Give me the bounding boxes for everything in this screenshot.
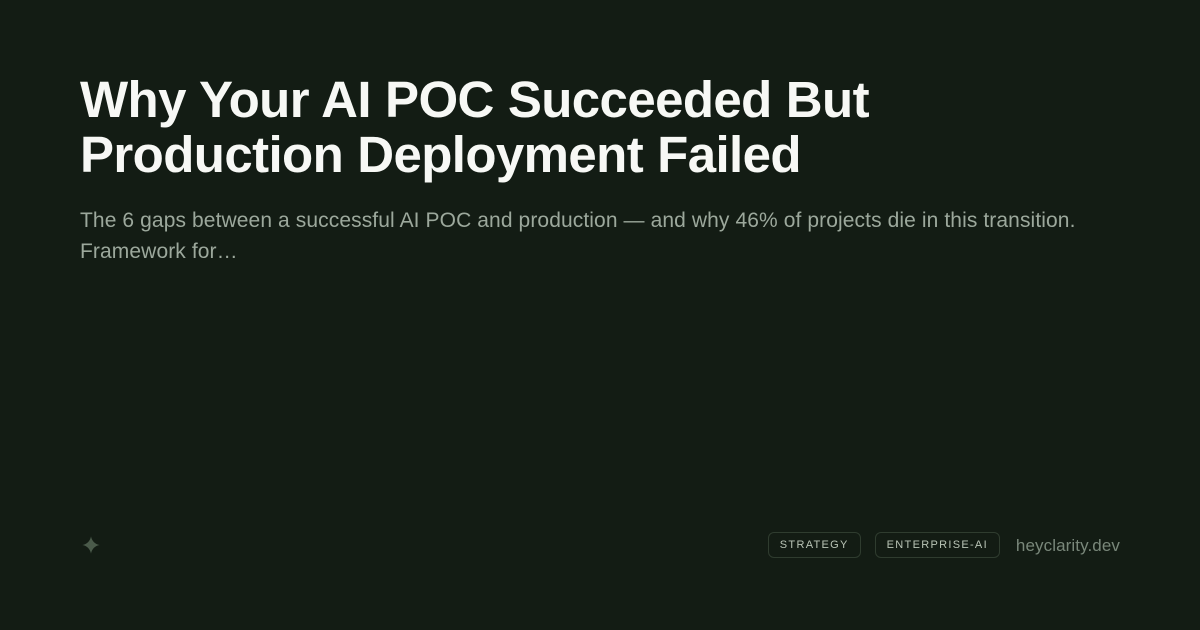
sparkle-icon <box>80 534 102 556</box>
tag-strategy[interactable]: STRATEGY <box>768 532 861 558</box>
card-footer: STRATEGY ENTERPRISE-AI heyclarity.dev <box>80 532 1120 558</box>
site-domain: heyclarity.dev <box>1016 537 1120 554</box>
card-content: Why Your AI POC Succeeded But Production… <box>80 72 1130 267</box>
page-title: Why Your AI POC Succeeded But Production… <box>80 72 1125 182</box>
footer-meta: STRATEGY ENTERPRISE-AI heyclarity.dev <box>768 532 1120 558</box>
tag-list: STRATEGY ENTERPRISE-AI <box>768 532 1000 558</box>
page-subtitle: The 6 gaps between a successful AI POC a… <box>80 182 1115 267</box>
og-card: Why Your AI POC Succeeded But Production… <box>0 0 1200 630</box>
tag-enterprise-ai[interactable]: ENTERPRISE-AI <box>875 532 1000 558</box>
